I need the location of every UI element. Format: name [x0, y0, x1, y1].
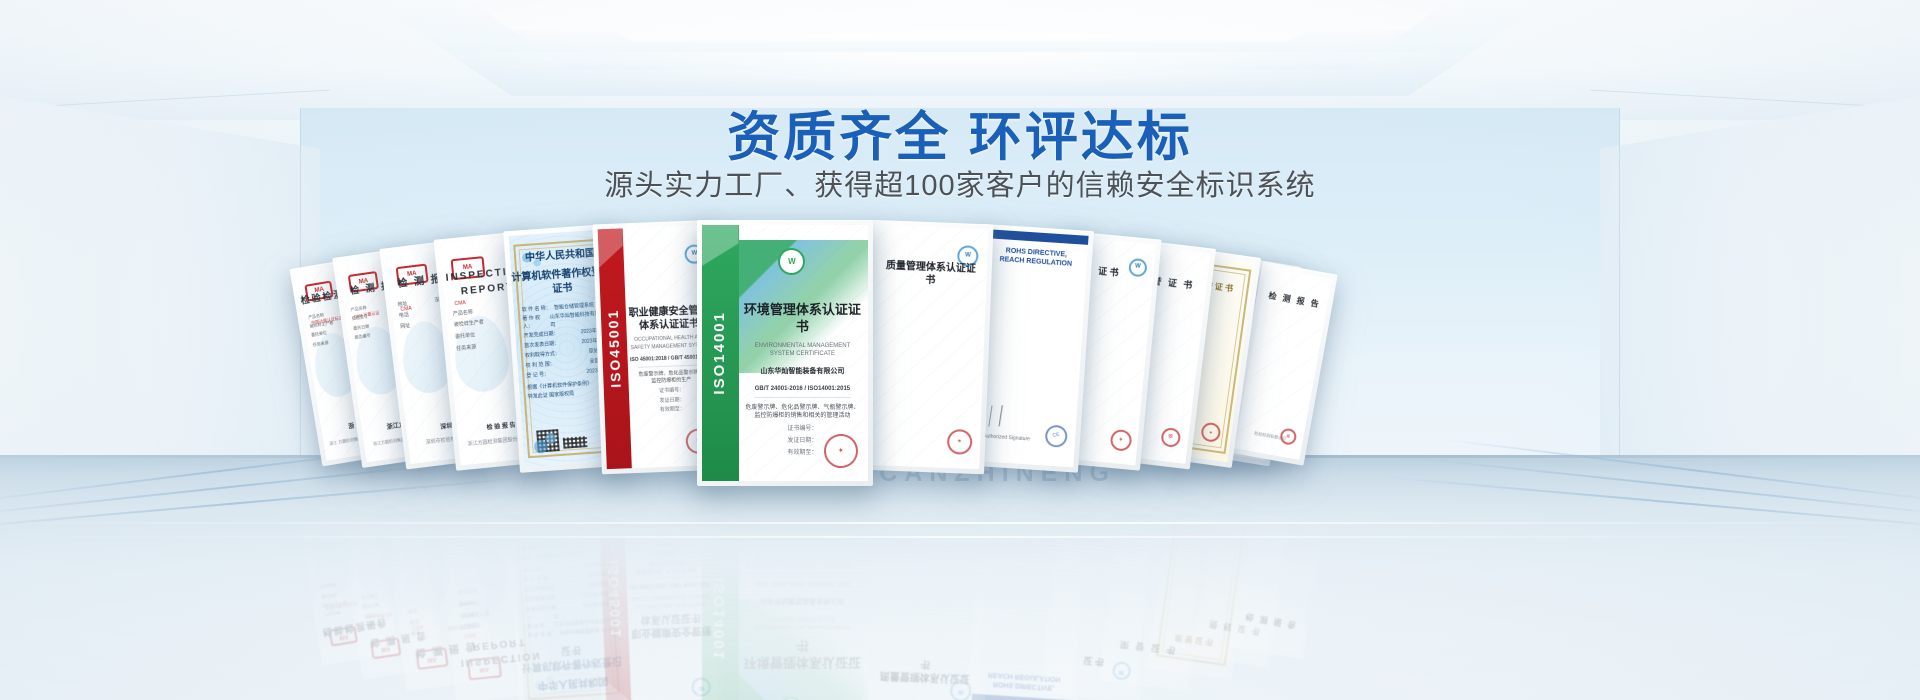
divider [1211, 604, 1266, 614]
field-value: 原始取得 [588, 578, 608, 587]
certificate-field: 地址深圳市宝安区 [404, 620, 484, 637]
blue-ornament-icon [530, 668, 562, 698]
certificate-standard: GB/T 24001-2016 / ISO14001:2015 [742, 385, 863, 394]
certificate-meta: 发证日期： [627, 537, 709, 547]
field-label: 权利取得方式： [524, 581, 559, 591]
security-watermark [385, 466, 490, 686]
official-seal-icon: ★ [952, 490, 983, 521]
certificate-subtitle: 计算机软件著作权登记证书 [520, 638, 622, 674]
certificate-paper: W质量管理体系认证证书QUALITY MANAGEMENT SYSTEM CER… [867, 225, 988, 469]
certificate-meta: Issue Date: [977, 612, 1079, 626]
certificate-issuer: 浙江方圆 [342, 490, 416, 509]
field-label: 委托日期 [353, 323, 370, 331]
spine-label: ISO45001 [603, 309, 626, 389]
certificate-subtitle: DECLARATION OF CONFORMITY [974, 656, 1076, 670]
certificate-mat [443, 472, 544, 693]
official-seal-icon: 章 [1303, 480, 1324, 501]
blue-ornament-bottom-icon [513, 480, 550, 519]
security-watermark [702, 491, 868, 700]
spine-highlight [605, 680, 631, 700]
certificate-note: 根据《计算机软件保护条例》 [514, 546, 614, 560]
certificate-background [338, 464, 440, 674]
field-label: 权 利 范 围： [525, 361, 555, 370]
field-value: 2023年06月 [582, 588, 609, 597]
security-watermark [1046, 468, 1156, 697]
field-label: 产品名称 [324, 609, 341, 617]
certificate-mat [389, 470, 485, 681]
certificate-meta: 有效期至： [742, 514, 863, 523]
certificate-background [971, 471, 1088, 700]
certificate-reflection: W ISO14001 环境管理体系认证证书ENVIRONMENTAL MANAG… [697, 486, 873, 700]
barcode-icon [550, 490, 575, 503]
field-value: 全部权利 [587, 568, 607, 577]
certificate-field: 网址www.s [401, 597, 481, 614]
certificate-title: 中华人民共和国 [523, 671, 624, 692]
certificate-background [1196, 462, 1296, 663]
certificate-meta: 发证日期： [1053, 601, 1143, 617]
certificate-title: 质量管理体系认证证书 [874, 259, 987, 289]
field-label: 被检样生产者 [454, 320, 485, 330]
certificate-reflection: W证 书CERTIFICATE山东华灿智能装备有限公司证书编号：发证日期：★ [1040, 462, 1161, 700]
field-label: 被检样生产者 [322, 599, 347, 609]
official-seal-icon: 章 [499, 479, 523, 503]
certificate-mat [976, 475, 1085, 700]
certificate-mat [706, 495, 864, 700]
certificate-meta: 编号： [1205, 593, 1275, 610]
spine-label: ISO14001 [709, 311, 731, 395]
certificate-title: 证 书 [1048, 650, 1139, 670]
certificate-subtitle: CERTIFICATE OF HONOR [1109, 623, 1191, 640]
certificate-meta: 证书编号： [742, 539, 863, 548]
certificate-field: 登 记 号：2023SR07 [515, 558, 615, 572]
field-label: 著 作 权 人： [526, 611, 554, 627]
certificate-scope: 危废警示牌、危化品警示牌、 监控防爆柜的生产 [628, 557, 710, 575]
certificate-field: 产品名称 [453, 614, 541, 630]
certificate-frame: MACMA 计量认证检 测 报 告产品名称规格型号委托日期报告编号浙江方圆浙江方… [332, 458, 445, 680]
certificate-mat [602, 479, 715, 700]
spine-highlight [598, 228, 624, 267]
certificate-title: 质量管理体系认证证书 [869, 655, 982, 685]
certificate-background [867, 475, 988, 700]
certificate-title: ROHS DIRECTIVE, REACH REGULATION [973, 668, 1076, 693]
certificate-background [702, 491, 868, 700]
certificate-title: INSPECTION REPORT [455, 632, 545, 669]
divider [1249, 596, 1301, 606]
field-label: 任务来源 [457, 585, 478, 594]
certificate-frame: W质量管理体系认证证书QUALITY MANAGEMENT SYSTEM CER… [862, 220, 994, 474]
certificate-background [1152, 464, 1255, 675]
official-seal-icon: 章 [389, 475, 409, 495]
cma-mark-label: CMA [454, 300, 466, 308]
certificate-reflection: W质量管理体系认证证书QUALITY MANAGEMENT SYSTEM CER… [862, 470, 994, 700]
certificate-reflection: 检 测 报 告TEST REPORT报告编号：检测单位：检验检测有限公司章 [1229, 455, 1338, 659]
cma-mark-label: CMA [412, 622, 424, 631]
certificate-standard: GB/T 19001-2016 / ISO9001:2015 [871, 620, 983, 632]
certificate-standard: EU RoHS 2011/65/EU EU REACH (EC) No 1907… [975, 632, 1078, 653]
signature-icon [995, 507, 1045, 535]
certificate-frame: 授 权 证 书AUTHORIZATION编号：日期：章 [1191, 456, 1302, 668]
certificate-footer: 检验检测有限公司 [1263, 476, 1329, 493]
official-seal-icon: ★ [820, 500, 861, 541]
certificate-subtitle: OCCUPATIONAL HEALTH AND SAFETY MANAGEMEN… [629, 591, 711, 609]
cma-mark-label: 中国计量认证标志 [325, 600, 358, 611]
field-value [380, 602, 381, 608]
certificate-paper: W ISO14001 环境管理体系认证证书ENVIRONMENTAL MANAG… [702, 225, 868, 481]
divider [1119, 620, 1184, 629]
certificate-reflection: 授 权 证 书AUTHORIZATION编号：日期：章 [1191, 456, 1302, 668]
certificate-panel[interactable]: W质量管理体系认证证书QUALITY MANAGEMENT SYSTEM CER… [862, 220, 994, 474]
certificate-frame: ROHS DIRECTIVE, REACH REGULATIONDECLARAT… [966, 466, 1094, 700]
certificate-subtitle: AUTHORIZATION [1203, 607, 1273, 624]
certificate-meta: 证书编号： [742, 425, 863, 434]
field-value: www.s [460, 598, 475, 607]
field-label: 网址 [407, 605, 418, 613]
certificate-field: 产品名称 [319, 601, 387, 618]
certificate-paper: ROHS DIRECTIVE, REACH REGULATIONDECLARAT… [971, 471, 1088, 700]
certificate-field: 首次发表日期：2023年06月 [517, 587, 617, 601]
cma-mark-icon: MA [329, 625, 358, 646]
cma-mark-icon: MA [415, 647, 448, 670]
certificate-scope: 山东华灿智能装备有限公司 [1051, 623, 1141, 639]
divider [754, 397, 851, 398]
field-value: 智能仓储管理系统 V1.0 [559, 625, 611, 636]
certificate-frame: W ISO45001 职业健康安全管理体系认证证书OCCUPATIONAL HE… [592, 470, 724, 700]
certificate-title: 环境管理体系认证证书 [742, 302, 863, 336]
spine-highlight [702, 225, 739, 266]
certificate-title: 职业健康安全管理体系认证证书 [630, 610, 713, 639]
certificate-paper: MACMA检 测 报 告地址深圳市宝安区电话0755-网址www.s深圳深圳市检… [385, 466, 490, 686]
banner-stage: 资质齐全 环评达标 源头实力工厂、获得超100家客户的信赖安全标识系统 MA中国… [0, 0, 1920, 700]
certificate-mat [1157, 468, 1251, 670]
field-label: 网址 [400, 323, 411, 331]
spine-label: ISO14001 [709, 577, 731, 661]
certificate-standard: ISO 45001:2018 / GB/T 45001-2020 [628, 579, 710, 589]
ornate-border [1156, 472, 1251, 666]
cma-mark-label: CMA 计量认证 [366, 612, 392, 621]
certificate-frame: W ISO14001 环境管理体系认证证书ENVIRONMENTAL MANAG… [697, 486, 873, 700]
field-label: 著 作 权 人： [522, 315, 550, 331]
blue-ornament-bottom-icon [526, 423, 563, 462]
field-value: 山东华灿智能科技有限公司 [553, 607, 610, 625]
certificate-reflection: ROHS DIRECTIVE, REACH REGULATIONDECLARAT… [966, 466, 1094, 700]
certificate-subtitle: CERTIFICATE [1050, 639, 1140, 655]
field-value [425, 604, 426, 610]
header-bar [971, 693, 1073, 700]
certificate-mat [871, 479, 984, 700]
certificate-field: 任务来源 [450, 579, 538, 595]
certificate-spine: ISO14001 [702, 491, 739, 700]
certificate-issuer: 浙 江 [299, 486, 368, 506]
certificate-field: 权利取得方式：原始取得 [516, 577, 616, 591]
certificate-meta: 日期： [1113, 595, 1195, 612]
spine-label: ISO45001 [603, 559, 626, 639]
field-label: 电话 [409, 616, 420, 624]
certificate-reflection: MACMAINSPECTION REPORT产品名称被检样生产者委托单位任务来源… [434, 462, 554, 700]
certificate-mat [300, 467, 389, 656]
certificate-title: 检 测 报 告 [1238, 609, 1305, 632]
certificate-frame: MACMAINSPECTION REPORT产品名称被检样生产者委托单位任务来源… [434, 462, 554, 700]
field-label: 委托单位 [311, 330, 328, 338]
field-value [377, 584, 378, 590]
field-label: 产品名称 [308, 312, 325, 320]
field-value: 2023SR07 [583, 558, 607, 567]
field-label: 首次发表日期： [525, 591, 560, 601]
security-watermark [295, 462, 393, 661]
field-label: 登 记 号： [523, 563, 546, 572]
certificate-mat [1201, 467, 1292, 659]
certificate-background [1104, 466, 1211, 686]
certificate-field: 委托单位 [451, 591, 539, 607]
certificate-paper: W ISO14001 环境管理体系认证证书ENVIRONMENTAL MANAG… [702, 491, 868, 700]
certificate-scope: 危废警示牌、危化品警示牌、气瓶警示牌、 监控防爆柜的销售和相关的管理活动 [742, 404, 863, 421]
field-label: 任务来源 [319, 582, 336, 590]
divider [638, 364, 703, 368]
certificate-field: 被检样生产者 [452, 603, 540, 619]
field-label: 报告编号 [361, 592, 378, 600]
qr-code-icon [524, 489, 547, 512]
certificate-mat [1239, 466, 1327, 649]
certificate-field: 电话0755- [402, 608, 482, 625]
certificate-field: 开发完成日期：2023年05月 [517, 597, 617, 611]
certificate-reflection: 中华人民共和国计算机软件著作权登记证书软 件 名 称：智能仓储管理系统 V1.0… [503, 466, 630, 700]
certificate-title: 检 测 报 告 [361, 627, 436, 650]
certificate-field: 权 利 范 围：全部权利 [515, 568, 615, 582]
field-label: 产品名称 [453, 309, 474, 318]
certificate-meta: 证书编号： [627, 547, 709, 557]
certificate-paper: MA中国计量认证标志检验检测报告产品名称被检样生产者委托单位任务来源浙 江浙江 … [295, 462, 393, 661]
certificate-scope: 危废警示牌、危化品警示牌、气瓶警示牌、 监控防爆柜的销售和相关的管理活动 [742, 551, 863, 568]
certificate-subtitle: TEST REPORT [1241, 599, 1307, 616]
certificate-paper: W质量管理体系认证证书QUALITY MANAGEMENT SYSTEM CER… [867, 475, 988, 700]
certificate-issuer: 深圳 [388, 493, 468, 511]
certificate-paper: 中华人民共和国计算机软件著作权登记证书软 件 名 称：智能仓储管理系统 V1.0… [509, 471, 625, 700]
accreditation-logo-icon: W [692, 677, 712, 697]
certificate-reflection: MA中国计量认证标志检验检测报告产品名称被检样生产者委托单位任务来源浙 江浙江 … [290, 456, 400, 666]
decorative-chevron [735, 599, 868, 700]
certificate-meta: Valid Until: [978, 602, 1080, 616]
field-label: 软 件 名 称： [527, 628, 557, 637]
certificate-meta: 编号： [1111, 607, 1193, 624]
divider [1060, 635, 1132, 643]
certificate-paper: MACMAINSPECTION REPORT产品名称被检样生产者委托单位任务来源… [439, 468, 548, 698]
certificate-frame: 检 测 报 告TEST REPORT报告编号：检测单位：检验检测有限公司章 [1229, 455, 1338, 659]
signature-icon [987, 405, 1034, 427]
accreditation-logo-icon: W [1112, 662, 1132, 682]
field-label: 地址 [410, 627, 421, 635]
certificate-meta: 颁发单位： [1160, 604, 1236, 620]
field-label: 首次发表日期： [524, 341, 559, 351]
certificate-frame: MACMA检 测 报 告地址深圳市宝安区电话0755-网址www.s深圳深圳市检… [379, 460, 495, 691]
field-label: 权利取得方式： [525, 351, 560, 361]
certificate-company: 山东华灿智能装备有限公司 [742, 594, 863, 604]
accreditation-logo-icon: W [950, 680, 972, 700]
certificate-title: 检 测 报 告 [406, 636, 487, 660]
certificate-meta: 发证日期： [742, 526, 863, 535]
certificate-frame: 荣 誉 证 书CERTIFICATE颁发单位：日期：★ [1146, 458, 1261, 680]
field-value [379, 593, 380, 599]
field-label: 委托单位 [455, 332, 476, 341]
certificate-reflection: MACMA 计量认证检 测 报 告产品名称规格型号委托日期报告编号浙江方圆浙江方… [332, 458, 445, 680]
certificate-subtitle: ENVIRONMENTAL MANAGEMENT SYSTEM CERTIFIC… [742, 342, 863, 359]
certificate-meta: 日期： [1206, 583, 1276, 600]
barcode-icon [563, 436, 588, 449]
field-value: 深圳市宝安区 [447, 620, 478, 631]
security-watermark [338, 464, 440, 674]
official-seal-icon: ★ [1124, 485, 1151, 512]
certificate-meta: 报告编号： [1244, 586, 1310, 603]
certificate-paper: W证 书CERTIFICATE山东华灿智能装备有限公司证书编号：发证日期：★ [1046, 468, 1156, 697]
guilloche-pattern [509, 471, 625, 700]
certificate-frame: W ISO14001 环境管理体系认证证书ENVIRONMENTAL MANAG… [697, 220, 873, 486]
certificate-mat [513, 475, 620, 700]
certificate-meta: Certificate No.: [976, 622, 1078, 636]
certificate-field: 软 件 名 称：智能仓储管理系统 V1.0 [519, 624, 619, 638]
divider [882, 617, 972, 621]
certificate-paper: 检 测 报 告TEST REPORT报告编号：检测单位：检验检测有限公司章 [1234, 461, 1332, 654]
field-value: 2023年05月 [583, 598, 610, 607]
security-watermark [598, 475, 719, 700]
certificate-meta: 日期： [1161, 595, 1237, 611]
certificate-issuer: 检 验 报 告 [442, 497, 530, 514]
certificate-background [1046, 468, 1156, 697]
certificate-title: 检验检测报告 [321, 615, 390, 639]
certificate-background [1234, 461, 1332, 654]
certificate-frame: 中华人民共和国计算机软件著作权登记证书软 件 名 称：智能仓储管理系统 V1.0… [503, 466, 630, 700]
certificate-meta: 有效期至： [627, 528, 709, 538]
certificate-meta: 发证日期： [872, 573, 984, 585]
certificate-spine: ISO14001 [702, 225, 739, 481]
official-seal-icon: 章 [1178, 485, 1203, 510]
certificate-mat [342, 468, 435, 669]
certificate-panel[interactable]: W ISO14001 环境管理体系认证证书ENVIRONMENTAL MANAG… [697, 220, 873, 486]
field-label: 被检样生产者 [459, 608, 490, 618]
certificate-footer: 浙江方圆检测集团股份有限公司 [340, 478, 414, 494]
certificate-note: 特发此证 国家版权局 [513, 537, 613, 551]
certificate-field: 产品名称 [359, 613, 433, 629]
certificate-subtitle: QUALITY MANAGEMENT SYSTEM CERTIFICATE [870, 635, 982, 654]
certificate-standard: GB/T 24001-2016 / ISO14001:2015 [742, 578, 863, 587]
certificate-reflection: W ISO45001 职业健康安全管理体系认证证书OCCUPATIONAL HE… [592, 470, 724, 700]
cma-mark-icon: MA [370, 637, 401, 659]
certificate-title: 荣 誉 证 书 [1107, 636, 1190, 659]
certificate-mat [1108, 470, 1206, 681]
field-value [376, 575, 377, 581]
certificate-paper: 荣 誉 证 书CERTIFICATE颁发单位：日期：★ [1152, 464, 1255, 675]
cma-mark-icon: MA [467, 657, 502, 681]
certificate-reflection: MACMA检 测 报 告地址深圳市宝安区电话0755-网址www.s深圳深圳市检… [379, 460, 495, 691]
certificate-title: 荣 誉 证 书 [1155, 628, 1232, 650]
official-seal-icon: 章 [1266, 481, 1288, 503]
certificate-footer: 深圳市检验检测中心 [387, 480, 467, 497]
field-label: 地址 [397, 301, 408, 309]
official-seal-icon: ★ [676, 485, 706, 515]
certificate-background [439, 468, 548, 698]
certificate-meta: 证书编号： [1052, 612, 1142, 628]
field-label: 被检样生产者 [309, 320, 334, 330]
cma-mark-label: CMA [464, 631, 476, 639]
field-value [534, 615, 535, 622]
field-label: 规格型号 [352, 314, 369, 322]
field-label: 开发完成日期： [523, 331, 558, 341]
decorative-swoosh [309, 526, 360, 596]
certificate-meta: 有效期至： [873, 561, 985, 573]
certificate-field: 委托单位 [316, 583, 384, 600]
field-label: 软 件 名 称： [522, 305, 552, 314]
certificate-subtitle: ENVIRONMENTAL MANAGEMENT SYSTEM CERTIFIC… [742, 613, 863, 630]
certificate-scope: 危废警示牌、危化品警示牌、气瓶 警示牌、监控防爆柜的生产和销售 [871, 596, 983, 615]
ornate-border [513, 481, 620, 700]
security-watermark [439, 468, 548, 698]
certificate-frame: W证 书CERTIFICATE山东华灿智能装备有限公司证书编号：发证日期：★ [1040, 462, 1161, 700]
certificate-field: 规格型号 [358, 604, 432, 620]
official-seal-icon: CE [1054, 492, 1082, 520]
divider [1166, 615, 1226, 624]
certificate-field: 著 作 权 人：山东华灿智能科技有限公司 [518, 607, 619, 628]
field-value [427, 614, 428, 620]
field-label: 规格型号 [364, 611, 381, 619]
certificate-meta: 证书编号： [872, 584, 984, 596]
certificate-subtitle: CERTIFICATE [1158, 618, 1234, 634]
certificate-frame: MA中国计量认证标志检验检测报告产品名称被检样生产者委托单位任务来源浙 江浙江 … [290, 456, 400, 666]
certificate-background [295, 462, 393, 661]
field-value [424, 595, 425, 601]
certificate-field: 被检样生产者 [317, 592, 385, 609]
field-label: 开发完成日期： [525, 601, 560, 611]
field-value [533, 603, 534, 610]
field-value [423, 586, 424, 592]
certificate-background [385, 466, 490, 686]
certificate-company: 山东华灿智能装备有限公司 [742, 367, 863, 377]
official-seal-icon: ★ [1219, 487, 1244, 512]
certificate-wall: MA中国计量认证标志检验检测报告产品名称被检样生产者委托单位任务来源浙 江浙江 … [0, 0, 1920, 700]
signature-label: Authorized Signature [995, 493, 1042, 503]
certificate-background [509, 471, 625, 700]
certificate-footer: 浙江方圆检测集团股份有限公司 [441, 483, 529, 499]
decorative-swoosh [351, 531, 405, 605]
certificate-paper: W ISO45001 职业健康安全管理体系认证证书OCCUPATIONAL HE… [598, 475, 719, 700]
certificate-reflection: 荣 誉 证 书CERTIFICATE颁发单位：日期：★ [1146, 458, 1261, 680]
official-seal-icon: 章 [342, 473, 360, 491]
field-label: 权 利 范 围： [523, 572, 553, 581]
field-label: 产品名称 [365, 620, 382, 628]
divider [636, 575, 701, 579]
field-label: 委托单位 [458, 597, 479, 606]
certificate-title: 环境管理体系认证证书 [742, 636, 863, 670]
security-watermark [1234, 461, 1332, 654]
security-watermark [1196, 462, 1296, 663]
field-value: 0755- [463, 609, 477, 618]
field-value [532, 592, 533, 599]
divider [985, 653, 1067, 659]
field-label: 委托单位 [321, 591, 338, 599]
field-value [531, 580, 532, 587]
field-label: 委托日期 [362, 602, 379, 610]
certificate-mat [1050, 472, 1152, 693]
certificate-footer: 浙江 方圆检测集团股份有限公司 [297, 475, 365, 492]
certificate-field: 报告编号 [355, 585, 429, 601]
certificate-spine: ISO45001 [598, 478, 632, 700]
decorative-swoosh [451, 541, 511, 621]
field-label: 产品名称 [460, 620, 481, 629]
certificate-frame: 荣 誉 证 书CERTIFICATE OF HONOR编号：日期：章 [1098, 460, 1216, 691]
certificate-reflection: 荣 誉 证 书CERTIFICATE OF HONOR编号：日期：章 [1098, 460, 1216, 691]
certificate-paper: 荣 誉 证 书CERTIFICATE OF HONOR编号：日期：章 [1104, 466, 1211, 686]
certificate-meta: 检测单位： [1245, 576, 1311, 593]
field-label: 电话 [399, 312, 410, 320]
divider [754, 574, 851, 575]
certificate-background [598, 475, 719, 700]
official-seal-icon: 章 [440, 477, 461, 498]
